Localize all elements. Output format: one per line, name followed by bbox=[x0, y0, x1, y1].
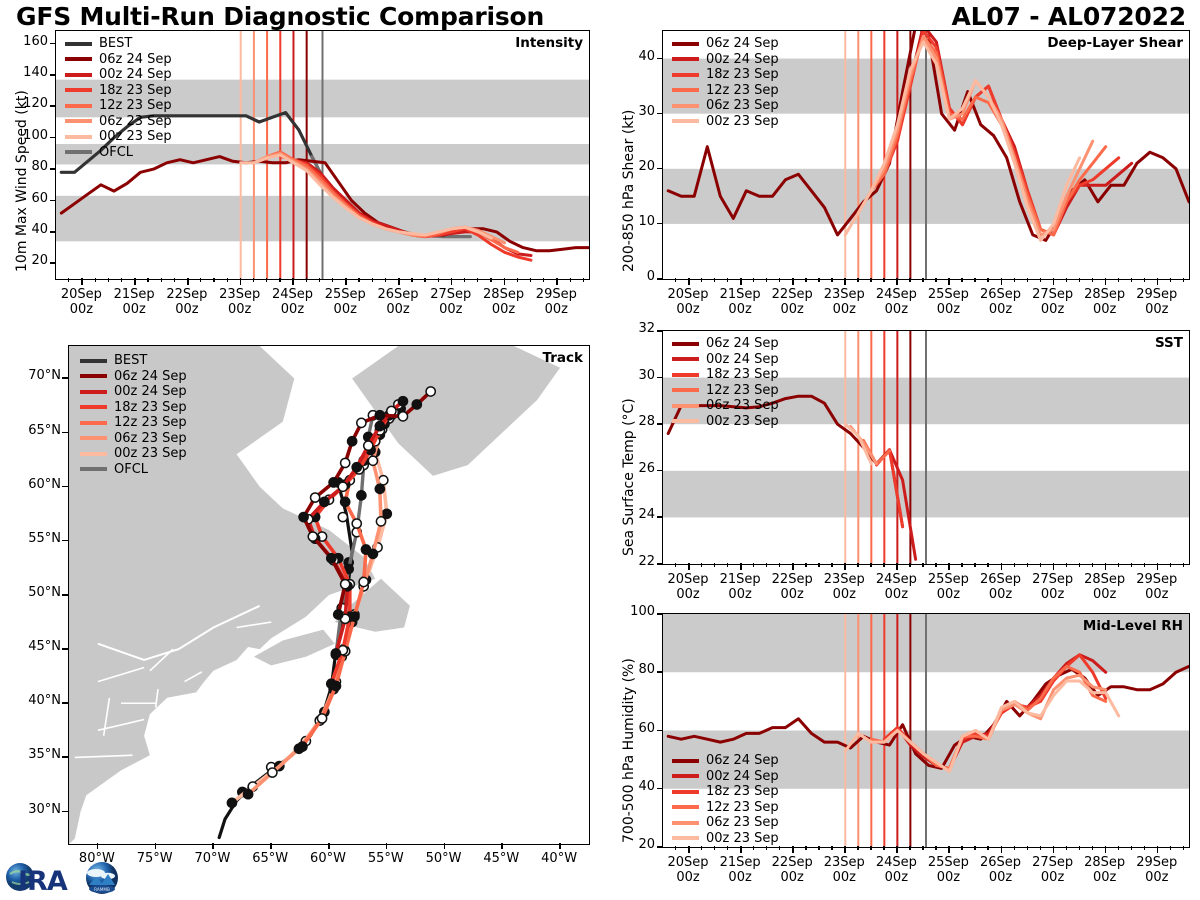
x-tickmark bbox=[688, 278, 690, 285]
legend-item: 18z 23 Sep bbox=[672, 367, 779, 383]
track-marker-filled bbox=[331, 649, 340, 658]
x-minor-tickmark bbox=[1092, 563, 1093, 567]
legend-label: 18z 23 Sep bbox=[114, 400, 187, 415]
lon-tickmark bbox=[501, 843, 503, 849]
lon-tick-label: 70°W bbox=[180, 851, 244, 866]
x-tickmark bbox=[81, 278, 83, 285]
y-tickmark bbox=[50, 231, 55, 233]
x-minor-tickmark bbox=[714, 846, 715, 850]
x-minor-tickmark bbox=[1170, 563, 1171, 567]
y-tick-label: 100 bbox=[7, 128, 48, 143]
legend-label: 18z 23 Sep bbox=[706, 784, 779, 799]
legend-label: 06z 24 Sep bbox=[706, 753, 779, 768]
x-minor-tickmark bbox=[909, 278, 910, 282]
x-minor-tickmark bbox=[753, 278, 754, 282]
x-tickmark bbox=[844, 846, 846, 853]
x-tickmark bbox=[688, 846, 690, 853]
x-minor-tickmark bbox=[95, 278, 96, 282]
legend-swatch bbox=[672, 57, 699, 61]
legend-item: 00z 24 Sep bbox=[672, 352, 779, 368]
y-tick-label: 28 bbox=[614, 414, 655, 429]
lat-tickmark bbox=[62, 377, 68, 379]
x-minor-tickmark bbox=[805, 563, 806, 567]
legend-swatch bbox=[80, 452, 107, 456]
x-minor-tickmark bbox=[1014, 278, 1015, 282]
legend-label: 06z 23 Sep bbox=[706, 815, 779, 830]
y-tick-label: 40 bbox=[7, 222, 48, 237]
lon-tick-label: 75°W bbox=[123, 851, 187, 866]
lat-tickmark bbox=[62, 540, 68, 542]
track-marker-filled bbox=[298, 742, 307, 751]
x-minor-tickmark bbox=[319, 278, 320, 282]
y-tick-label: 30 bbox=[614, 368, 655, 383]
x-minor-tickmark bbox=[675, 846, 676, 850]
x-tickmark bbox=[896, 846, 898, 853]
legend-item: 00z 24 Sep bbox=[672, 52, 779, 68]
x-minor-tickmark bbox=[306, 278, 307, 282]
track-marker-open bbox=[398, 412, 407, 421]
track-marker-open bbox=[364, 441, 373, 450]
legend-label: 00z 24 Sep bbox=[99, 67, 172, 82]
x-tickmark bbox=[1105, 846, 1107, 853]
legend-item: 18z 23 Sep bbox=[672, 784, 779, 800]
x-minor-tickmark bbox=[1092, 846, 1093, 850]
x-minor-tickmark bbox=[108, 278, 109, 282]
legend-label: 06z 23 Sep bbox=[99, 114, 172, 129]
x-minor-tickmark bbox=[1040, 563, 1041, 567]
track-marker-open bbox=[357, 418, 366, 427]
x-minor-tickmark bbox=[253, 278, 254, 282]
legend-label: 00z 24 Sep bbox=[114, 384, 187, 399]
legend-label: OFCL bbox=[99, 145, 133, 160]
x-tickmark bbox=[451, 278, 453, 285]
lat-tick-label: 70°N bbox=[6, 368, 61, 383]
y-tickmark bbox=[657, 613, 662, 615]
x-minor-tickmark bbox=[961, 278, 962, 282]
lon-tick-label: 80°W bbox=[65, 851, 129, 866]
x-minor-tickmark bbox=[857, 846, 858, 850]
x-minor-tickmark bbox=[818, 846, 819, 850]
lat-tick-label: 30°N bbox=[6, 802, 61, 817]
legend-item: 12z 23 Sep bbox=[672, 83, 779, 99]
lon-tickmark bbox=[328, 843, 330, 849]
x-minor-tickmark bbox=[358, 278, 359, 282]
x-minor-tickmark bbox=[1027, 563, 1028, 567]
x-minor-tickmark bbox=[1170, 846, 1171, 850]
legend-swatch bbox=[65, 135, 92, 139]
x-minor-tickmark bbox=[1131, 563, 1132, 567]
track-marker-filled bbox=[299, 512, 308, 521]
lon-tickmark bbox=[444, 843, 446, 849]
x-tickmark bbox=[896, 563, 898, 570]
panel-title-rh: Mid-Level RH bbox=[1083, 618, 1183, 634]
lat-tickmark bbox=[62, 594, 68, 596]
legend-swatch bbox=[80, 405, 107, 409]
x-minor-tickmark bbox=[1183, 846, 1184, 850]
x-minor-tickmark bbox=[870, 563, 871, 567]
x-minor-tickmark bbox=[974, 278, 975, 282]
legend-swatch bbox=[672, 419, 699, 423]
x-minor-tickmark bbox=[1118, 278, 1119, 282]
y-tickmark bbox=[657, 113, 662, 115]
track-marker-open bbox=[338, 482, 347, 491]
track-marker-open bbox=[311, 493, 320, 502]
legend-label: 00z 23 Sep bbox=[706, 831, 779, 846]
x-minor-tickmark bbox=[1131, 846, 1132, 850]
x-minor-tickmark bbox=[779, 563, 780, 567]
x-tickmark bbox=[896, 278, 898, 285]
y-tickmark bbox=[657, 168, 662, 170]
legend-item: 00z 24 Sep bbox=[80, 384, 187, 400]
legend-swatch bbox=[65, 150, 92, 154]
lat-tickmark bbox=[62, 756, 68, 758]
legend-item: 12z 23 Sep bbox=[672, 800, 779, 816]
x-tickmark bbox=[187, 278, 189, 285]
axis-label-intensity-y: 10m Max Wind Speed (kt) bbox=[14, 90, 30, 272]
x-minor-tickmark bbox=[1079, 846, 1080, 850]
svg-text:RAMMB: RAMMB bbox=[94, 887, 110, 892]
y-tickmark bbox=[50, 105, 55, 107]
x-minor-tickmark bbox=[583, 278, 584, 282]
x-minor-tickmark bbox=[818, 278, 819, 282]
y-tickmark bbox=[657, 671, 662, 673]
x-minor-tickmark bbox=[935, 278, 936, 282]
x-minor-tickmark bbox=[922, 278, 923, 282]
legend-item: 18z 23 Sep bbox=[80, 400, 187, 416]
lat-tick-label: 65°N bbox=[6, 423, 61, 438]
legend-item: 06z 23 Sep bbox=[65, 114, 172, 130]
x-tickmark bbox=[1157, 563, 1159, 570]
x-tickmark bbox=[844, 563, 846, 570]
y-tickmark bbox=[657, 58, 662, 60]
track-marker-open bbox=[352, 519, 361, 528]
x-tickmark bbox=[1157, 846, 1159, 853]
x-minor-tickmark bbox=[266, 278, 267, 282]
x-tickmark bbox=[240, 278, 242, 285]
x-tickmark bbox=[792, 846, 794, 853]
y-tick-label: 80 bbox=[614, 662, 655, 677]
legend-item: 06z 23 Sep bbox=[80, 431, 187, 447]
y-tick-label: 40 bbox=[614, 49, 655, 64]
x-minor-tickmark bbox=[1183, 563, 1184, 567]
y-tick-label: 10 bbox=[614, 214, 655, 229]
legend-item: 12z 23 Sep bbox=[672, 383, 779, 399]
legend-swatch bbox=[672, 836, 699, 840]
legend-label: 12z 23 Sep bbox=[706, 83, 779, 98]
legend-item: 06z 24 Sep bbox=[672, 336, 779, 352]
x-minor-tickmark bbox=[987, 278, 988, 282]
track-marker-open bbox=[317, 714, 326, 723]
track-marker-open bbox=[338, 512, 347, 521]
x-minor-tickmark bbox=[701, 846, 702, 850]
legend-label: 06z 23 Sep bbox=[114, 431, 187, 446]
legend-swatch bbox=[672, 42, 699, 46]
legend-swatch bbox=[672, 404, 699, 408]
y-tickmark bbox=[50, 262, 55, 264]
y-tick-label: 140 bbox=[7, 65, 48, 80]
track-marker-filled bbox=[327, 554, 336, 563]
x-minor-tickmark bbox=[530, 278, 531, 282]
x-minor-tickmark bbox=[909, 846, 910, 850]
track-marker-filled bbox=[375, 411, 384, 420]
lon-tickmark bbox=[559, 843, 561, 849]
x-minor-tickmark bbox=[831, 563, 832, 567]
x-minor-tickmark bbox=[490, 278, 491, 282]
x-minor-tickmark bbox=[766, 846, 767, 850]
legend-item: 00z 23 Sep bbox=[672, 831, 779, 847]
x-minor-tickmark bbox=[870, 278, 871, 282]
legend-label: 18z 23 Sep bbox=[706, 67, 779, 82]
legend-item: OFCL bbox=[65, 145, 172, 161]
legend-swatch bbox=[65, 57, 92, 61]
x-tickmark bbox=[792, 563, 794, 570]
legend-item: 06z 23 Sep bbox=[672, 98, 779, 114]
y-tick-label: 60 bbox=[614, 721, 655, 736]
y-tick-label: 24 bbox=[614, 507, 655, 522]
legend-swatch bbox=[672, 373, 699, 377]
lon-tickmark bbox=[97, 843, 99, 849]
x-minor-tickmark bbox=[1066, 278, 1067, 282]
legend-label: 00z 23 Sep bbox=[706, 114, 779, 129]
legend-item: 00z 23 Sep bbox=[672, 114, 779, 130]
lon-tickmark bbox=[386, 843, 388, 849]
legend-swatch bbox=[65, 88, 92, 92]
track-marker-filled bbox=[398, 397, 407, 406]
legend-item: 00z 23 Sep bbox=[672, 414, 779, 430]
legend-label: 00z 24 Sep bbox=[706, 352, 779, 367]
x-minor-tickmark bbox=[213, 278, 214, 282]
x-minor-tickmark bbox=[1027, 278, 1028, 282]
x-minor-tickmark bbox=[332, 278, 333, 282]
x-minor-tickmark bbox=[1131, 278, 1132, 282]
track-marker-filled bbox=[227, 798, 236, 807]
x-tickmark bbox=[844, 278, 846, 285]
figure-canvas: GFS Multi-Run Diagnostic Comparison AL07… bbox=[0, 0, 1200, 900]
legend-label: 06z 24 Sep bbox=[114, 369, 187, 384]
legend-swatch bbox=[672, 805, 699, 809]
x-minor-tickmark bbox=[714, 278, 715, 282]
x-minor-tickmark bbox=[974, 563, 975, 567]
x-tickmark bbox=[292, 278, 294, 285]
legend-swatch bbox=[672, 73, 699, 77]
legend-label: 06z 24 Sep bbox=[706, 336, 779, 351]
track-marker-open bbox=[341, 580, 350, 589]
track-marker-open bbox=[341, 458, 350, 467]
legend-swatch bbox=[80, 436, 107, 440]
x-minor-tickmark bbox=[805, 278, 806, 282]
legend-swatch bbox=[80, 390, 107, 394]
lon-tickmark bbox=[155, 843, 157, 849]
legend-item: BEST bbox=[65, 36, 172, 52]
lat-tickmark bbox=[62, 486, 68, 488]
x-minor-tickmark bbox=[385, 278, 386, 282]
legend-swatch bbox=[672, 759, 699, 763]
x-minor-tickmark bbox=[987, 563, 988, 567]
x-minor-tickmark bbox=[1066, 563, 1067, 567]
track-marker-filled bbox=[357, 491, 366, 500]
y-tickmark bbox=[657, 223, 662, 225]
track-marker-filled bbox=[375, 422, 384, 431]
legend-swatch bbox=[672, 342, 699, 346]
legend-item: 06z 24 Sep bbox=[672, 36, 779, 52]
legend-swatch bbox=[672, 388, 699, 392]
track-marker-filled bbox=[334, 610, 343, 619]
lon-tick-label: 40°W bbox=[527, 851, 591, 866]
legend-item: 06z 23 Sep bbox=[672, 398, 779, 414]
x-tickmark bbox=[345, 278, 347, 285]
y-tickmark bbox=[657, 788, 662, 790]
y-tickmark bbox=[50, 137, 55, 139]
lat-tickmark bbox=[62, 811, 68, 813]
x-minor-tickmark bbox=[411, 278, 412, 282]
track-marker-open bbox=[426, 387, 435, 396]
panel-title-intensity: Intensity bbox=[515, 35, 583, 51]
y-tick-label: 60 bbox=[7, 191, 48, 206]
legend-item: 00z 23 Sep bbox=[65, 129, 172, 145]
y-tickmark bbox=[657, 846, 662, 848]
x-minor-tickmark bbox=[987, 846, 988, 850]
x-tickmark bbox=[1053, 563, 1055, 570]
y-tickmark bbox=[50, 74, 55, 76]
track-marker-filled bbox=[352, 463, 361, 472]
x-minor-tickmark bbox=[464, 278, 465, 282]
x-minor-tickmark bbox=[805, 846, 806, 850]
x-tickmark bbox=[1001, 278, 1003, 285]
x-tickmark bbox=[1001, 563, 1003, 570]
legend-label: 12z 23 Sep bbox=[114, 415, 187, 430]
legend-swatch bbox=[672, 821, 699, 825]
x-minor-tickmark bbox=[766, 563, 767, 567]
legend-item: 06z 24 Sep bbox=[672, 753, 779, 769]
x-minor-tickmark bbox=[935, 563, 936, 567]
legend-label: 00z 24 Sep bbox=[706, 52, 779, 67]
track-marker-filled bbox=[348, 437, 357, 446]
legend-swatch bbox=[672, 88, 699, 92]
x-minor-tickmark bbox=[517, 278, 518, 282]
y-tickmark bbox=[657, 377, 662, 379]
lat-tick-label: 60°N bbox=[6, 477, 61, 492]
x-minor-tickmark bbox=[1014, 563, 1015, 567]
x-minor-tickmark bbox=[857, 278, 858, 282]
page-title: GFS Multi-Run Diagnostic Comparison bbox=[16, 2, 544, 31]
legend-item: OFCL bbox=[80, 462, 187, 478]
x-minor-tickmark bbox=[570, 278, 571, 282]
track-marker-open bbox=[268, 768, 277, 777]
x-minor-tickmark bbox=[1040, 846, 1041, 850]
x-minor-tickmark bbox=[727, 278, 728, 282]
lat-tick-label: 40°N bbox=[6, 693, 61, 708]
legend-label: 18z 23 Sep bbox=[99, 83, 172, 98]
y-tick-label: 120 bbox=[7, 96, 48, 111]
legend-item: 06z 24 Sep bbox=[80, 369, 187, 385]
x-minor-tickmark bbox=[1144, 846, 1145, 850]
legend-item: 18z 23 Sep bbox=[65, 83, 172, 99]
x-minor-tickmark bbox=[857, 563, 858, 567]
x-minor-tickmark bbox=[1092, 278, 1093, 282]
y-tickmark bbox=[50, 168, 55, 170]
y-tickmark bbox=[657, 563, 662, 565]
legend-label: 00z 23 Sep bbox=[99, 129, 172, 144]
legend-label: 18z 23 Sep bbox=[706, 367, 779, 382]
legend-item: 00z 24 Sep bbox=[65, 67, 172, 83]
x-tickmark bbox=[948, 846, 950, 853]
legend-sst: 06z 24 Sep00z 24 Sep18z 23 Sep12z 23 Sep… bbox=[672, 336, 779, 429]
legend-label: BEST bbox=[99, 36, 132, 51]
x-minor-tickmark bbox=[1014, 846, 1015, 850]
legend-swatch bbox=[672, 119, 699, 123]
x-minor-tickmark bbox=[974, 846, 975, 850]
x-minor-tickmark bbox=[883, 278, 884, 282]
panel-title-shear: Deep-Layer Shear bbox=[1047, 35, 1183, 51]
legend-item: 12z 23 Sep bbox=[65, 98, 172, 114]
panel-title-track: Track bbox=[543, 350, 583, 366]
legend-swatch bbox=[672, 104, 699, 108]
legend-swatch bbox=[65, 42, 92, 46]
legend-swatch bbox=[65, 119, 92, 123]
y-tickmark bbox=[657, 423, 662, 425]
x-minor-tickmark bbox=[1040, 278, 1041, 282]
x-minor-tickmark bbox=[909, 563, 910, 567]
x-tickmark bbox=[948, 563, 950, 570]
x-tickmark bbox=[134, 278, 136, 285]
lon-tick-label: 55°W bbox=[354, 851, 418, 866]
x-tickmark bbox=[792, 278, 794, 285]
x-tickmark bbox=[1053, 846, 1055, 853]
legend-item: 18z 23 Sep bbox=[672, 67, 779, 83]
lat-tick-label: 55°N bbox=[6, 531, 61, 546]
lon-tick-label: 60°W bbox=[296, 851, 360, 866]
x-minor-tickmark bbox=[701, 278, 702, 282]
track-marker-filled bbox=[375, 484, 384, 493]
x-minor-tickmark bbox=[714, 563, 715, 567]
x-tickmark bbox=[398, 278, 400, 285]
x-minor-tickmark bbox=[675, 278, 676, 282]
svg-text:IRA: IRA bbox=[18, 866, 68, 897]
legend-intensity: BEST06z 24 Sep00z 24 Sep18z 23 Sep12z 23… bbox=[65, 36, 172, 160]
x-minor-tickmark bbox=[424, 278, 425, 282]
x-minor-tickmark bbox=[1066, 846, 1067, 850]
x-minor-tickmark bbox=[1118, 563, 1119, 567]
legend-swatch bbox=[65, 73, 92, 77]
track-marker-filled bbox=[412, 400, 421, 409]
track-marker-filled bbox=[327, 679, 336, 688]
x-minor-tickmark bbox=[831, 846, 832, 850]
y-tickmark bbox=[657, 516, 662, 518]
lat-tick-label: 35°N bbox=[6, 747, 61, 762]
x-minor-tickmark bbox=[1183, 278, 1184, 282]
x-minor-tickmark bbox=[68, 278, 69, 282]
x-tickmark bbox=[504, 278, 506, 285]
lon-tickmark bbox=[270, 843, 272, 849]
track-marker-filled bbox=[329, 478, 338, 487]
track-marker-filled bbox=[320, 497, 329, 506]
legend-label: 00z 24 Sep bbox=[706, 769, 779, 784]
x-minor-tickmark bbox=[543, 278, 544, 282]
x-minor-tickmark bbox=[883, 846, 884, 850]
y-tick-label: 26 bbox=[614, 461, 655, 476]
lat-tick-label: 50°N bbox=[6, 585, 61, 600]
legend-label: 12z 23 Sep bbox=[706, 383, 779, 398]
x-minor-tickmark bbox=[818, 563, 819, 567]
legend-label: OFCL bbox=[114, 462, 148, 477]
x-minor-tickmark bbox=[227, 278, 228, 282]
x-tick-label: 29Sep00z bbox=[1124, 572, 1190, 602]
x-tick-label: 29Sep00z bbox=[1124, 855, 1190, 885]
legend-track: BEST06z 24 Sep00z 24 Sep18z 23 Sep12z 23… bbox=[80, 353, 187, 477]
lat-tickmark bbox=[62, 432, 68, 434]
legend-swatch bbox=[672, 357, 699, 361]
x-minor-tickmark bbox=[961, 846, 962, 850]
